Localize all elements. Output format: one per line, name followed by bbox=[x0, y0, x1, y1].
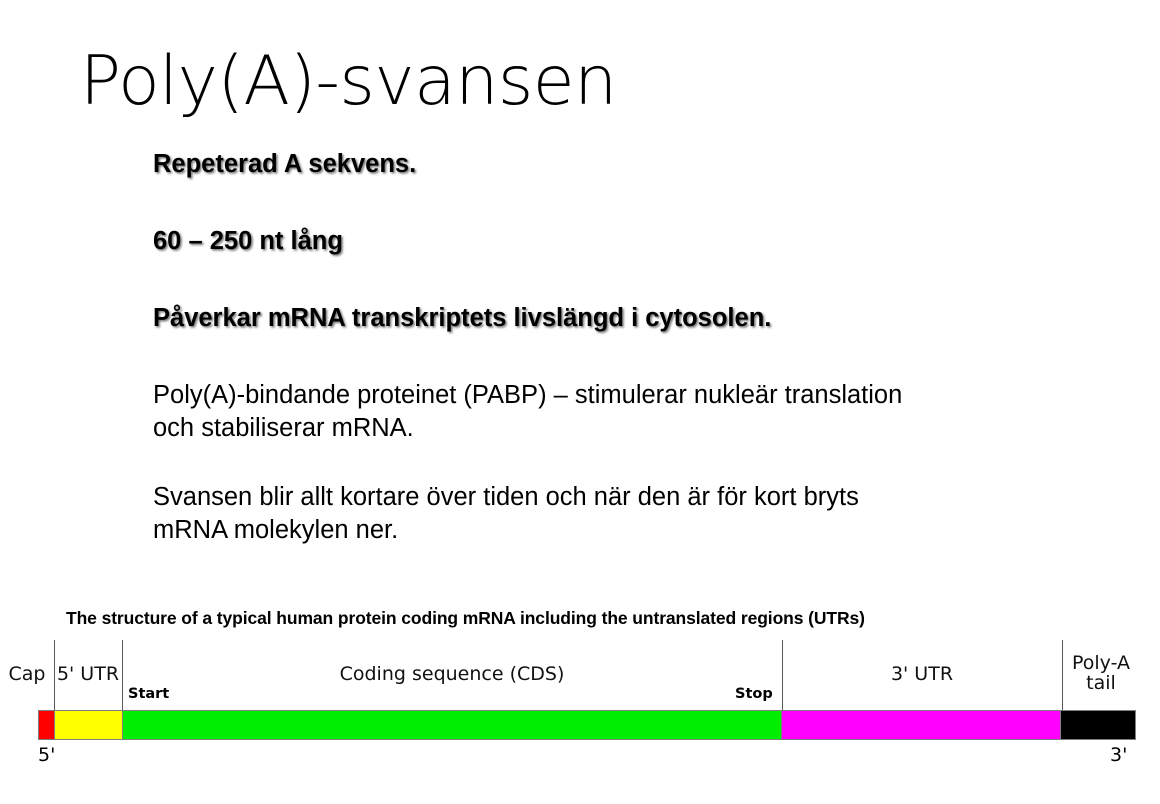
label-five-prime-utr: 5' UTR bbox=[56, 664, 120, 685]
mrna-structure-figure: The structure of a typical human protein… bbox=[0, 598, 1160, 804]
body-spacer bbox=[153, 258, 1033, 302]
body-line-5: och stabiliserar mRNA. bbox=[153, 412, 1033, 445]
body-line-2: 60 – 250 nt lång bbox=[153, 225, 1033, 258]
label-five-prime-end: 5' bbox=[38, 744, 55, 766]
segment-poly-a-tail bbox=[1060, 711, 1135, 739]
tick-utr-cds bbox=[122, 640, 123, 710]
mrna-bar bbox=[38, 710, 1136, 740]
label-start-codon: Start bbox=[128, 686, 169, 702]
figure-caption: The structure of a typical human protein… bbox=[66, 608, 865, 629]
body-line-3: Påverkar mRNA transkriptets livslängd i … bbox=[153, 302, 1033, 335]
body-line-7: mRNA molekylen ner. bbox=[153, 514, 1033, 547]
body-line-1: Repeterad A sekvens. bbox=[153, 148, 1033, 181]
segment-three-prime-utr bbox=[781, 711, 1060, 739]
label-coding-sequence: Coding sequence (CDS) bbox=[124, 664, 780, 685]
tick-cap-utr bbox=[54, 640, 55, 710]
body-spacer bbox=[153, 445, 1033, 481]
label-stop-codon: Stop bbox=[735, 686, 773, 702]
label-poly-a-tail: Poly-A tail bbox=[1064, 653, 1138, 693]
segment-cap bbox=[39, 711, 54, 739]
body-line-6: Svansen blir allt kortare över tiden och… bbox=[153, 481, 1033, 514]
tick-utr3-polya bbox=[1062, 640, 1063, 710]
body-line-4: Poly(A)-bindande proteinet (PABP) – stim… bbox=[153, 379, 1033, 412]
segment-five-prime-utr bbox=[54, 711, 122, 739]
label-three-prime-utr: 3' UTR bbox=[784, 664, 1060, 685]
segment-coding-sequence bbox=[122, 711, 781, 739]
label-three-prime-end: 3' bbox=[1110, 744, 1127, 766]
slide-body: Repeterad A sekvens. 60 – 250 nt lång På… bbox=[153, 148, 1033, 547]
tick-cds-utr3 bbox=[782, 640, 783, 710]
label-cap: Cap bbox=[2, 664, 52, 685]
body-spacer bbox=[153, 335, 1033, 379]
body-spacer bbox=[153, 181, 1033, 225]
page-title: Poly(A)-svansen bbox=[80, 42, 617, 122]
